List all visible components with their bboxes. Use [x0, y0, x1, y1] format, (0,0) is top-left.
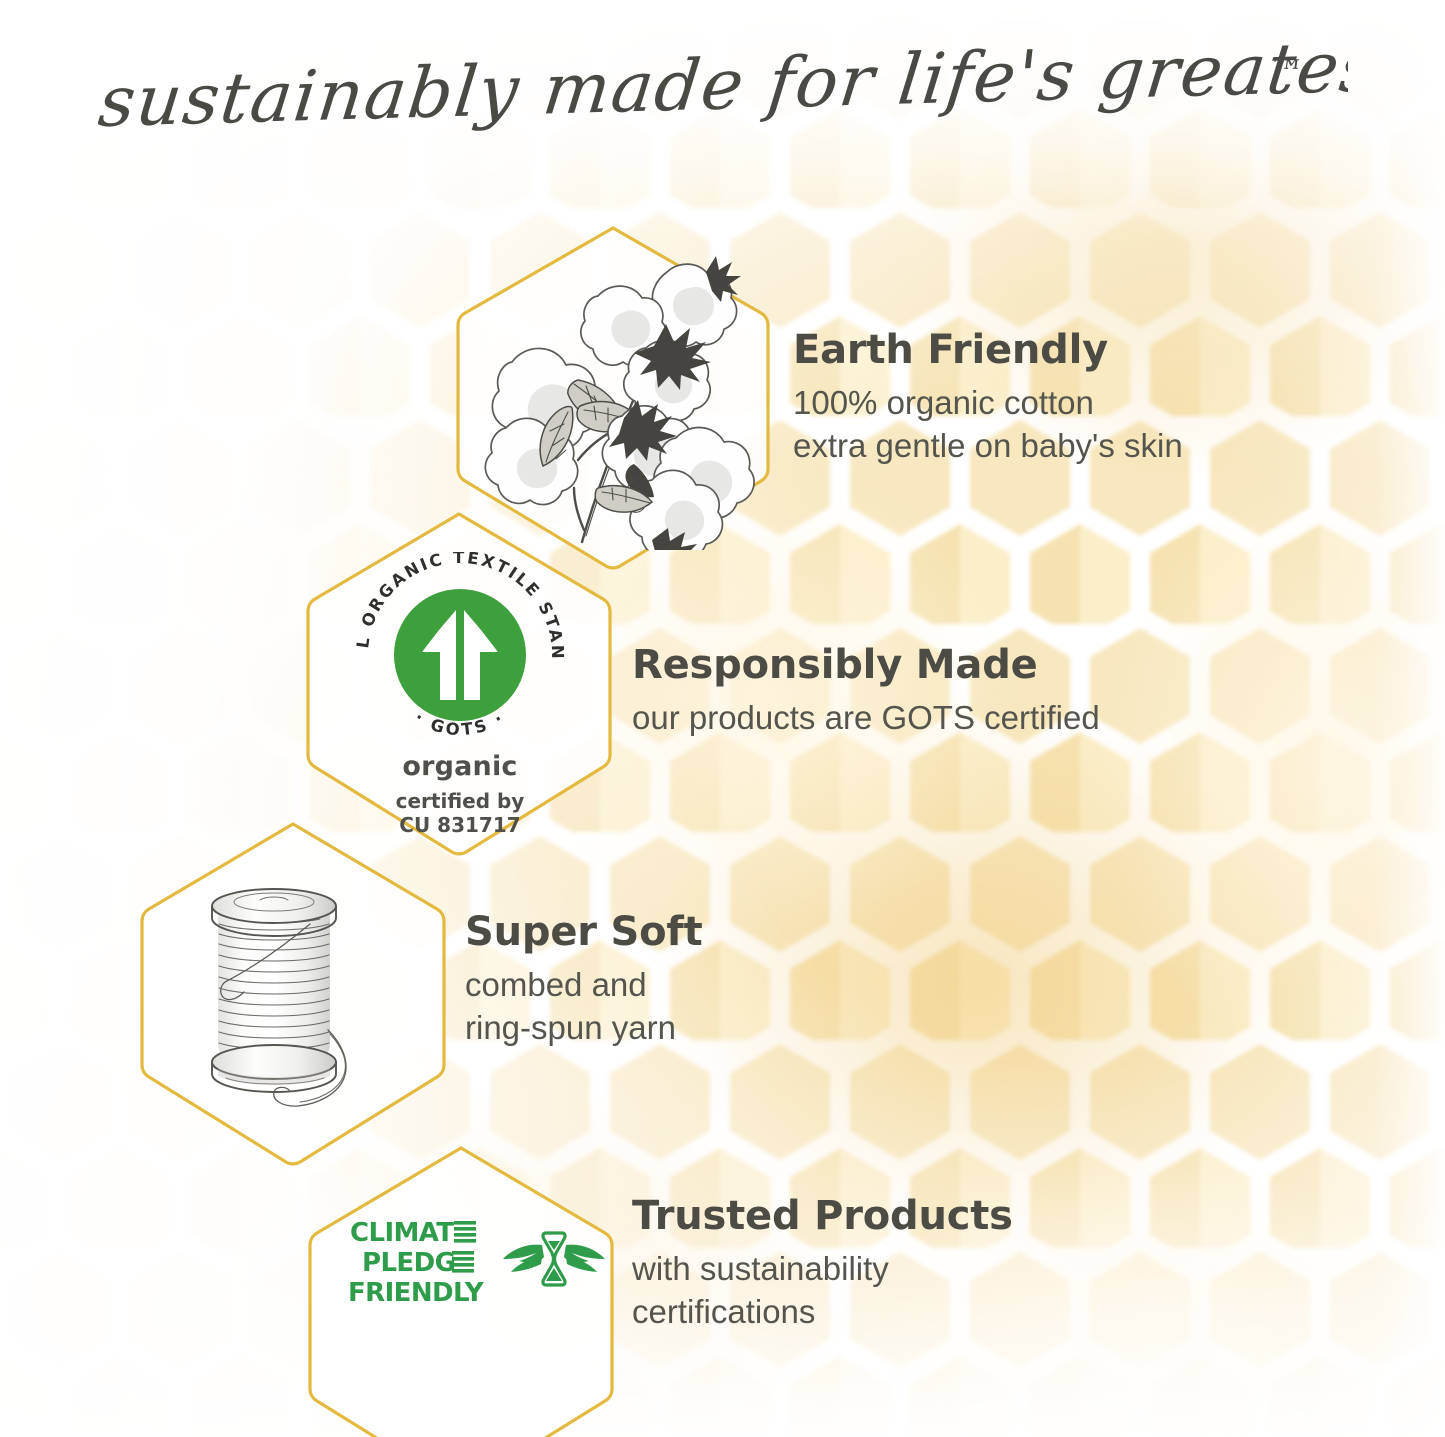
climate-pledge-friendly-icon: CLIMAT PLEDG FRIENDLY — [348, 1214, 606, 1310]
feature-line: extra gentle on baby's skin — [793, 425, 1183, 468]
gots-certified-by: certified by CU 831717 — [344, 790, 576, 837]
feature-line: certifications — [632, 1291, 1013, 1334]
feature-line: with sustainability — [632, 1248, 1013, 1291]
feature-text-earth-friendly: Earth Friendly 100% organic cotton extra… — [793, 330, 1183, 468]
feature-line: our products are GOTS certified — [632, 697, 1100, 740]
feature-text-trusted-products: Trusted Products with sustainability cer… — [632, 1196, 1013, 1334]
feature-line: combed and — [465, 964, 703, 1007]
svg-text:sustainably made for life's gr: sustainably made for life's greatest joy — [98, 44, 1348, 143]
feature-heading: Earth Friendly — [793, 330, 1183, 370]
feature-heading: Responsibly Made — [632, 645, 1100, 685]
winged-hourglass-icon — [502, 1223, 606, 1301]
hex-card-super-soft — [132, 818, 454, 1168]
gots-organic-label: organic — [344, 751, 576, 782]
feature-text-super-soft: Super Soft combed and ring-spun yarn — [465, 912, 703, 1050]
gots-certification-icon: GLOBAL ORGANIC TEXTILE STANDARD · GOTS ·… — [344, 552, 576, 837]
gots-certified-by-line: certified by — [344, 790, 576, 814]
feature-heading: Trusted Products — [632, 1196, 1013, 1236]
svg-text:CLIMAT: CLIMAT — [350, 1218, 454, 1248]
gots-certifier-code: CU 831717 — [344, 814, 576, 838]
feature-heading: Super Soft — [465, 912, 703, 952]
feature-line: ring-spun yarn — [465, 1007, 703, 1050]
tagline: sustainably made for life's greatest joy… — [0, 44, 1445, 152]
svg-text:FRIENDLY: FRIENDLY — [348, 1278, 485, 1308]
feature-line: 100% organic cotton — [793, 382, 1183, 425]
infographic-canvas: sustainably made for life's greatest joy… — [0, 0, 1445, 1437]
climate-pledge-wordmark: CLIMAT PLEDG FRIENDLY — [348, 1214, 488, 1310]
feature-text-responsibly-made: Responsibly Made our products are GOTS c… — [632, 645, 1100, 740]
svg-text:™: ™ — [1266, 53, 1306, 93]
svg-text:PLEDG: PLEDG — [362, 1248, 455, 1278]
